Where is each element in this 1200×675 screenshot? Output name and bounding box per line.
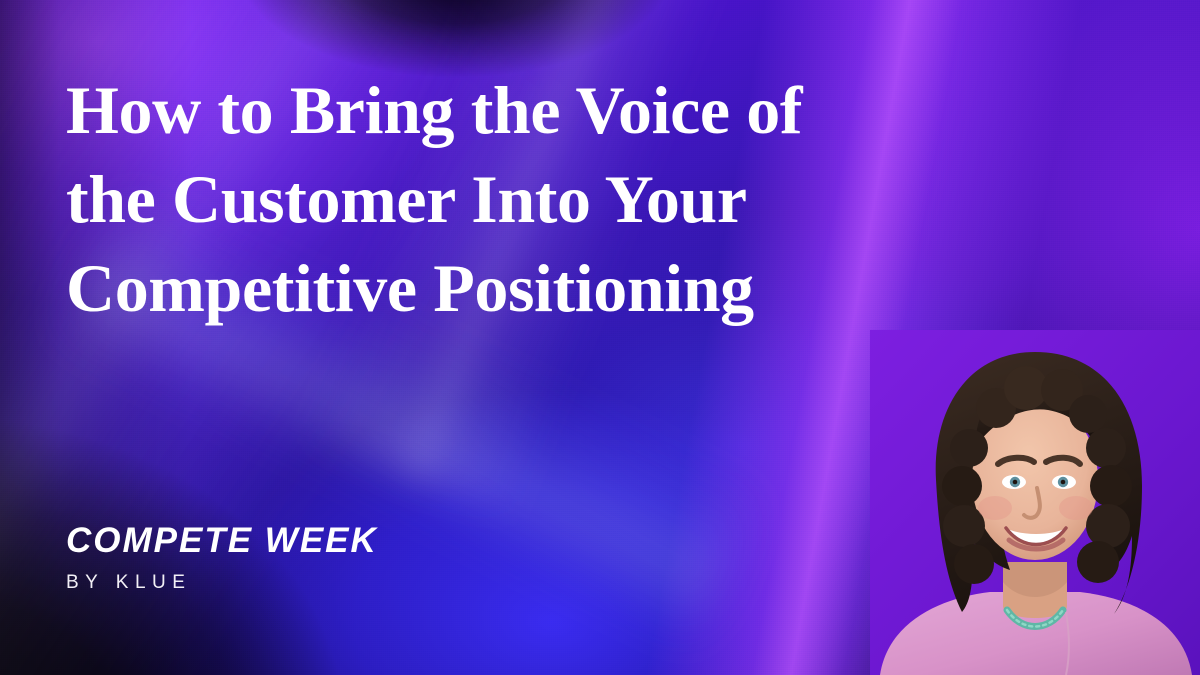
portrait-cheek	[1059, 496, 1093, 520]
portrait-curl	[942, 466, 982, 506]
portrait-curl	[950, 429, 988, 467]
portrait-illustration	[870, 330, 1200, 675]
portrait-curl	[954, 544, 994, 584]
page-title: How to Bring the Voice of the Customer I…	[66, 66, 966, 333]
title-card: How to Bring the Voice of the Customer I…	[0, 0, 1200, 675]
portrait-curl	[1086, 428, 1126, 468]
portrait-pupil	[1013, 480, 1018, 485]
portrait-curl	[1069, 395, 1107, 433]
portrait-curl	[1077, 541, 1119, 583]
brand-lockup: COMPETE WEEK BY KLUE	[66, 521, 378, 594]
portrait-pupil	[1061, 480, 1066, 485]
brand-name: COMPETE WEEK	[66, 521, 378, 561]
portrait-curl	[1090, 465, 1132, 507]
brand-byline: BY KLUE	[66, 572, 378, 594]
portrait-cheek	[978, 496, 1012, 520]
portrait-curl	[1086, 504, 1130, 548]
speaker-portrait	[870, 330, 1200, 675]
